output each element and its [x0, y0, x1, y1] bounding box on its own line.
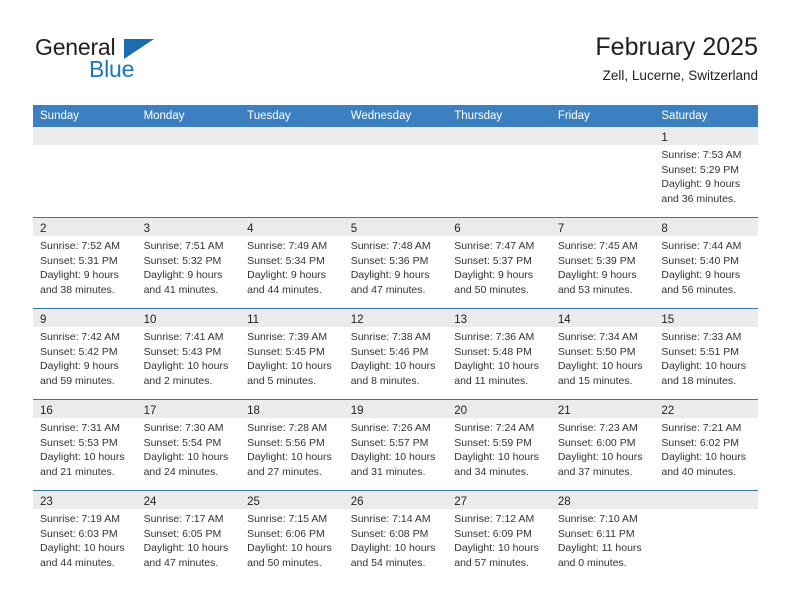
- sunset-text: Sunset: 5:54 PM: [144, 436, 237, 451]
- day-cell-inner: 13Sunrise: 7:36 AMSunset: 5:48 PMDayligh…: [447, 309, 551, 399]
- day-cell-inner: [33, 127, 137, 217]
- sunset-text: Sunset: 6:05 PM: [144, 527, 237, 542]
- calendar-day-cell[interactable]: 27Sunrise: 7:12 AMSunset: 6:09 PMDayligh…: [447, 491, 551, 582]
- sunrise-text: Sunrise: 7:14 AM: [351, 512, 444, 527]
- sunrise-text: Sunrise: 7:42 AM: [40, 330, 133, 345]
- daylight-text-line1: Daylight: 10 hours: [144, 359, 237, 374]
- calendar-day-cell[interactable]: 16Sunrise: 7:31 AMSunset: 5:53 PMDayligh…: [33, 400, 137, 491]
- day-number-band: [240, 127, 344, 145]
- daylight-text-line1: Daylight: 9 hours: [40, 268, 133, 283]
- day-cell-inner: 12Sunrise: 7:38 AMSunset: 5:46 PMDayligh…: [344, 309, 448, 399]
- daylight-text-line1: Daylight: 10 hours: [247, 541, 340, 556]
- calendar-day-cell-empty: [240, 127, 344, 218]
- sun-info: Sunrise: 7:51 AMSunset: 5:32 PMDaylight:…: [137, 236, 241, 297]
- calendar-day-cell[interactable]: 13Sunrise: 7:36 AMSunset: 5:48 PMDayligh…: [447, 309, 551, 400]
- calendar-day-cell[interactable]: 18Sunrise: 7:28 AMSunset: 5:56 PMDayligh…: [240, 400, 344, 491]
- calendar-day-cell-empty: [447, 127, 551, 218]
- daylight-text-line1: Daylight: 10 hours: [247, 450, 340, 465]
- day-number: 21: [558, 405, 571, 417]
- daylight-text-line1: Daylight: 10 hours: [40, 541, 133, 556]
- sunset-text: Sunset: 5:45 PM: [247, 345, 340, 360]
- day-number-band: 7: [551, 218, 655, 236]
- calendar-day-cell-empty: [551, 127, 655, 218]
- daylight-text-line1: Daylight: 10 hours: [558, 359, 651, 374]
- day-number-band: 27: [447, 491, 551, 509]
- sun-info: Sunrise: 7:24 AMSunset: 5:59 PMDaylight:…: [447, 418, 551, 479]
- day-number: 5: [351, 223, 357, 235]
- day-cell-inner: 25Sunrise: 7:15 AMSunset: 6:06 PMDayligh…: [240, 491, 344, 581]
- day-number: 6: [454, 223, 460, 235]
- day-number: 3: [144, 223, 150, 235]
- daylight-text-line2: and 38 minutes.: [40, 283, 133, 298]
- calendar-week-row: 23Sunrise: 7:19 AMSunset: 6:03 PMDayligh…: [33, 491, 758, 582]
- daylight-text-line1: Daylight: 10 hours: [454, 541, 547, 556]
- daylight-text-line2: and 54 minutes.: [351, 556, 444, 571]
- calendar-week-row: 16Sunrise: 7:31 AMSunset: 5:53 PMDayligh…: [33, 400, 758, 491]
- calendar-day-cell[interactable]: 10Sunrise: 7:41 AMSunset: 5:43 PMDayligh…: [137, 309, 241, 400]
- daylight-text-line2: and 37 minutes.: [558, 465, 651, 480]
- sunrise-text: Sunrise: 7:38 AM: [351, 330, 444, 345]
- calendar-day-cell-empty: [137, 127, 241, 218]
- day-cell-inner: 15Sunrise: 7:33 AMSunset: 5:51 PMDayligh…: [654, 309, 758, 399]
- calendar-day-cell[interactable]: 23Sunrise: 7:19 AMSunset: 6:03 PMDayligh…: [33, 491, 137, 582]
- daylight-text-line1: Daylight: 10 hours: [661, 359, 754, 374]
- sunset-text: Sunset: 6:08 PM: [351, 527, 444, 542]
- daylight-text-line1: Daylight: 9 hours: [40, 359, 133, 374]
- day-number: 16: [40, 405, 53, 417]
- day-cell-inner: 24Sunrise: 7:17 AMSunset: 6:05 PMDayligh…: [137, 491, 241, 581]
- calendar-day-cell[interactable]: 12Sunrise: 7:38 AMSunset: 5:46 PMDayligh…: [344, 309, 448, 400]
- calendar-day-cell[interactable]: 28Sunrise: 7:10 AMSunset: 6:11 PMDayligh…: [551, 491, 655, 582]
- sun-info: Sunrise: 7:15 AMSunset: 6:06 PMDaylight:…: [240, 509, 344, 570]
- day-number-band: [447, 127, 551, 145]
- sun-info: Sunrise: 7:42 AMSunset: 5:42 PMDaylight:…: [33, 327, 137, 388]
- weekday-header-tuesday: Tuesday: [240, 105, 344, 127]
- daylight-text-line2: and 2 minutes.: [144, 374, 237, 389]
- page-subtitle: Zell, Lucerne, Switzerland: [595, 65, 758, 87]
- day-number: 1: [661, 132, 667, 144]
- daylight-text-line1: Daylight: 9 hours: [454, 268, 547, 283]
- sunset-text: Sunset: 5:36 PM: [351, 254, 444, 269]
- general-blue-logo[interactable]: General Blue: [34, 32, 274, 90]
- day-number-band: 20: [447, 400, 551, 418]
- daylight-text-line1: Daylight: 9 hours: [558, 268, 651, 283]
- daylight-text-line2: and 0 minutes.: [558, 556, 651, 571]
- sunset-text: Sunset: 5:43 PM: [144, 345, 237, 360]
- calendar-day-cell[interactable]: 9Sunrise: 7:42 AMSunset: 5:42 PMDaylight…: [33, 309, 137, 400]
- day-number-band: 28: [551, 491, 655, 509]
- sunset-text: Sunset: 6:00 PM: [558, 436, 651, 451]
- sunset-text: Sunset: 5:46 PM: [351, 345, 444, 360]
- day-number-band: 17: [137, 400, 241, 418]
- day-number-band: 3: [137, 218, 241, 236]
- logo-text-blue: Blue: [89, 56, 134, 82]
- day-number-band: [344, 127, 448, 145]
- calendar-week-row: 2Sunrise: 7:52 AMSunset: 5:31 PMDaylight…: [33, 218, 758, 309]
- day-number: 25: [247, 496, 260, 508]
- calendar-table: Sunday Monday Tuesday Wednesday Thursday…: [33, 105, 758, 581]
- daylight-text-line1: Daylight: 9 hours: [247, 268, 340, 283]
- sunset-text: Sunset: 6:09 PM: [454, 527, 547, 542]
- day-cell-inner: 22Sunrise: 7:21 AMSunset: 6:02 PMDayligh…: [654, 400, 758, 490]
- day-number-band: 26: [344, 491, 448, 509]
- daylight-text-line1: Daylight: 10 hours: [40, 450, 133, 465]
- day-number: 4: [247, 223, 253, 235]
- day-number-band: 10: [137, 309, 241, 327]
- daylight-text-line2: and 50 minutes.: [247, 556, 340, 571]
- daylight-text-line2: and 56 minutes.: [661, 283, 754, 298]
- sunset-text: Sunset: 5:42 PM: [40, 345, 133, 360]
- sunset-text: Sunset: 5:31 PM: [40, 254, 133, 269]
- sunrise-text: Sunrise: 7:17 AM: [144, 512, 237, 527]
- calendar-day-cell[interactable]: 8Sunrise: 7:44 AMSunset: 5:40 PMDaylight…: [654, 218, 758, 309]
- daylight-text-line2: and 59 minutes.: [40, 374, 133, 389]
- sun-info: Sunrise: 7:17 AMSunset: 6:05 PMDaylight:…: [137, 509, 241, 570]
- daylight-text-line1: Daylight: 11 hours: [558, 541, 651, 556]
- sunset-text: Sunset: 6:03 PM: [40, 527, 133, 542]
- day-cell-inner: 5Sunrise: 7:48 AMSunset: 5:36 PMDaylight…: [344, 218, 448, 308]
- calendar-day-cell[interactable]: 14Sunrise: 7:34 AMSunset: 5:50 PMDayligh…: [551, 309, 655, 400]
- sunset-text: Sunset: 5:53 PM: [40, 436, 133, 451]
- sun-info: Sunrise: 7:53 AMSunset: 5:29 PMDaylight:…: [654, 145, 758, 206]
- daylight-text-line2: and 34 minutes.: [454, 465, 547, 480]
- weekday-header-sunday: Sunday: [33, 105, 137, 127]
- daylight-text-line1: Daylight: 10 hours: [661, 450, 754, 465]
- day-cell-inner: 8Sunrise: 7:44 AMSunset: 5:40 PMDaylight…: [654, 218, 758, 308]
- calendar-day-cell[interactable]: 20Sunrise: 7:24 AMSunset: 5:59 PMDayligh…: [447, 400, 551, 491]
- calendar-day-cell-empty: [654, 491, 758, 582]
- day-number: 20: [454, 405, 467, 417]
- day-number-band: 2: [33, 218, 137, 236]
- daylight-text-line2: and 41 minutes.: [144, 283, 237, 298]
- day-cell-inner: 7Sunrise: 7:45 AMSunset: 5:39 PMDaylight…: [551, 218, 655, 308]
- day-cell-inner: 9Sunrise: 7:42 AMSunset: 5:42 PMDaylight…: [33, 309, 137, 399]
- sunrise-text: Sunrise: 7:12 AM: [454, 512, 547, 527]
- sun-info: Sunrise: 7:31 AMSunset: 5:53 PMDaylight:…: [33, 418, 137, 479]
- daylight-text-line1: Daylight: 10 hours: [351, 359, 444, 374]
- sunset-text: Sunset: 6:11 PM: [558, 527, 651, 542]
- calendar-day-cell[interactable]: 1Sunrise: 7:53 AMSunset: 5:29 PMDaylight…: [654, 127, 758, 218]
- day-number-band: 15: [654, 309, 758, 327]
- day-cell-inner: [654, 491, 758, 581]
- daylight-text-line2: and 36 minutes.: [661, 192, 754, 207]
- daylight-text-line2: and 50 minutes.: [454, 283, 547, 298]
- day-number-band: 14: [551, 309, 655, 327]
- calendar-day-cell[interactable]: 5Sunrise: 7:48 AMSunset: 5:36 PMDaylight…: [344, 218, 448, 309]
- day-number-band: 24: [137, 491, 241, 509]
- daylight-text-line2: and 47 minutes.: [351, 283, 444, 298]
- daylight-text-line2: and 40 minutes.: [661, 465, 754, 480]
- daylight-text-line1: Daylight: 9 hours: [661, 268, 754, 283]
- calendar-day-cell[interactable]: 25Sunrise: 7:15 AMSunset: 6:06 PMDayligh…: [240, 491, 344, 582]
- calendar-day-cell[interactable]: 7Sunrise: 7:45 AMSunset: 5:39 PMDaylight…: [551, 218, 655, 309]
- calendar-day-cell[interactable]: 6Sunrise: 7:47 AMSunset: 5:37 PMDaylight…: [447, 218, 551, 309]
- sunrise-text: Sunrise: 7:21 AM: [661, 421, 754, 436]
- calendar-day-cell-empty: [33, 127, 137, 218]
- day-cell-inner: [551, 127, 655, 217]
- day-number: 18: [247, 405, 260, 417]
- sunrise-text: Sunrise: 7:31 AM: [40, 421, 133, 436]
- daylight-text-line1: Daylight: 9 hours: [661, 177, 754, 192]
- day-cell-inner: [344, 127, 448, 217]
- day-cell-inner: 6Sunrise: 7:47 AMSunset: 5:37 PMDaylight…: [447, 218, 551, 308]
- sunset-text: Sunset: 5:40 PM: [661, 254, 754, 269]
- sun-info: Sunrise: 7:30 AMSunset: 5:54 PMDaylight:…: [137, 418, 241, 479]
- sunset-text: Sunset: 5:50 PM: [558, 345, 651, 360]
- day-number-band: 18: [240, 400, 344, 418]
- sun-info: Sunrise: 7:45 AMSunset: 5:39 PMDaylight:…: [551, 236, 655, 297]
- day-cell-inner: 16Sunrise: 7:31 AMSunset: 5:53 PMDayligh…: [33, 400, 137, 490]
- calendar-day-cell[interactable]: 19Sunrise: 7:26 AMSunset: 5:57 PMDayligh…: [344, 400, 448, 491]
- sun-info: Sunrise: 7:33 AMSunset: 5:51 PMDaylight:…: [654, 327, 758, 388]
- sunrise-text: Sunrise: 7:39 AM: [247, 330, 340, 345]
- day-cell-inner: 10Sunrise: 7:41 AMSunset: 5:43 PMDayligh…: [137, 309, 241, 399]
- sun-info: Sunrise: 7:28 AMSunset: 5:56 PMDaylight:…: [240, 418, 344, 479]
- day-number: 10: [144, 314, 157, 326]
- sunset-text: Sunset: 5:59 PM: [454, 436, 547, 451]
- sunset-text: Sunset: 6:06 PM: [247, 527, 340, 542]
- sun-info: Sunrise: 7:39 AMSunset: 5:45 PMDaylight:…: [240, 327, 344, 388]
- sunset-text: Sunset: 5:57 PM: [351, 436, 444, 451]
- calendar-day-cell[interactable]: 15Sunrise: 7:33 AMSunset: 5:51 PMDayligh…: [654, 309, 758, 400]
- sun-info: Sunrise: 7:41 AMSunset: 5:43 PMDaylight:…: [137, 327, 241, 388]
- sunset-text: Sunset: 5:48 PM: [454, 345, 547, 360]
- day-cell-inner: 18Sunrise: 7:28 AMSunset: 5:56 PMDayligh…: [240, 400, 344, 490]
- day-cell-inner: 4Sunrise: 7:49 AMSunset: 5:34 PMDaylight…: [240, 218, 344, 308]
- daylight-text-line1: Daylight: 9 hours: [351, 268, 444, 283]
- day-cell-inner: 11Sunrise: 7:39 AMSunset: 5:45 PMDayligh…: [240, 309, 344, 399]
- calendar-body: 1Sunrise: 7:53 AMSunset: 5:29 PMDaylight…: [33, 127, 758, 581]
- sunrise-text: Sunrise: 7:19 AM: [40, 512, 133, 527]
- daylight-text-line2: and 44 minutes.: [40, 556, 133, 571]
- sunset-text: Sunset: 5:34 PM: [247, 254, 340, 269]
- day-cell-inner: 3Sunrise: 7:51 AMSunset: 5:32 PMDaylight…: [137, 218, 241, 308]
- calendar-day-cell[interactable]: 3Sunrise: 7:51 AMSunset: 5:32 PMDaylight…: [137, 218, 241, 309]
- sun-info: Sunrise: 7:36 AMSunset: 5:48 PMDaylight:…: [447, 327, 551, 388]
- sunset-text: Sunset: 5:51 PM: [661, 345, 754, 360]
- sunrise-text: Sunrise: 7:53 AM: [661, 148, 754, 163]
- daylight-text-line1: Daylight: 10 hours: [144, 541, 237, 556]
- day-cell-inner: 27Sunrise: 7:12 AMSunset: 6:09 PMDayligh…: [447, 491, 551, 581]
- sunrise-text: Sunrise: 7:28 AM: [247, 421, 340, 436]
- day-number-band: 9: [33, 309, 137, 327]
- day-cell-inner: 26Sunrise: 7:14 AMSunset: 6:08 PMDayligh…: [344, 491, 448, 581]
- day-cell-inner: 14Sunrise: 7:34 AMSunset: 5:50 PMDayligh…: [551, 309, 655, 399]
- sun-info: Sunrise: 7:48 AMSunset: 5:36 PMDaylight:…: [344, 236, 448, 297]
- day-number: 28: [558, 496, 571, 508]
- calendar-day-cell[interactable]: 26Sunrise: 7:14 AMSunset: 6:08 PMDayligh…: [344, 491, 448, 582]
- sunrise-text: Sunrise: 7:30 AM: [144, 421, 237, 436]
- daylight-text-line2: and 8 minutes.: [351, 374, 444, 389]
- day-number: 17: [144, 405, 157, 417]
- day-number: 23: [40, 496, 53, 508]
- sunrise-text: Sunrise: 7:15 AM: [247, 512, 340, 527]
- sunrise-text: Sunrise: 7:48 AM: [351, 239, 444, 254]
- daylight-text-line2: and 24 minutes.: [144, 465, 237, 480]
- sunrise-text: Sunrise: 7:49 AM: [247, 239, 340, 254]
- day-number: 14: [558, 314, 571, 326]
- daylight-text-line1: Daylight: 10 hours: [247, 359, 340, 374]
- day-number: 2: [40, 223, 46, 235]
- sunset-text: Sunset: 5:37 PM: [454, 254, 547, 269]
- daylight-text-line2: and 44 minutes.: [247, 283, 340, 298]
- day-number-band: [654, 491, 758, 509]
- day-cell-inner: 1Sunrise: 7:53 AMSunset: 5:29 PMDaylight…: [654, 127, 758, 217]
- day-number-band: 19: [344, 400, 448, 418]
- daylight-text-line1: Daylight: 10 hours: [454, 359, 547, 374]
- day-number: 8: [661, 223, 667, 235]
- day-number: 12: [351, 314, 364, 326]
- day-cell-inner: [137, 127, 241, 217]
- sun-info: Sunrise: 7:23 AMSunset: 6:00 PMDaylight:…: [551, 418, 655, 479]
- day-cell-inner: 20Sunrise: 7:24 AMSunset: 5:59 PMDayligh…: [447, 400, 551, 490]
- day-number: 11: [247, 314, 259, 326]
- sun-info: Sunrise: 7:19 AMSunset: 6:03 PMDaylight:…: [33, 509, 137, 570]
- weekday-header-row: Sunday Monday Tuesday Wednesday Thursday…: [33, 105, 758, 127]
- weekday-header-monday: Monday: [137, 105, 241, 127]
- day-cell-inner: [447, 127, 551, 217]
- day-number-band: [33, 127, 137, 145]
- daylight-text-line2: and 53 minutes.: [558, 283, 651, 298]
- day-cell-inner: 21Sunrise: 7:23 AMSunset: 6:00 PMDayligh…: [551, 400, 655, 490]
- calendar-day-cell-empty: [344, 127, 448, 218]
- daylight-text-line2: and 31 minutes.: [351, 465, 444, 480]
- sunrise-text: Sunrise: 7:52 AM: [40, 239, 133, 254]
- sunrise-text: Sunrise: 7:36 AM: [454, 330, 547, 345]
- day-cell-inner: [240, 127, 344, 217]
- sunset-text: Sunset: 5:56 PM: [247, 436, 340, 451]
- calendar-day-cell[interactable]: 2Sunrise: 7:52 AMSunset: 5:31 PMDaylight…: [33, 218, 137, 309]
- daylight-text-line1: Daylight: 9 hours: [144, 268, 237, 283]
- page-header: General Blue February 2025 Zell, Lucerne…: [34, 32, 758, 98]
- day-number: 7: [558, 223, 564, 235]
- calendar-day-cell[interactable]: 17Sunrise: 7:30 AMSunset: 5:54 PMDayligh…: [137, 400, 241, 491]
- sunrise-text: Sunrise: 7:10 AM: [558, 512, 651, 527]
- day-number: 26: [351, 496, 364, 508]
- sunrise-text: Sunrise: 7:34 AM: [558, 330, 651, 345]
- calendar-page: General Blue February 2025 Zell, Lucerne…: [0, 0, 792, 612]
- sun-info: Sunrise: 7:10 AMSunset: 6:11 PMDaylight:…: [551, 509, 655, 570]
- sun-info: Sunrise: 7:21 AMSunset: 6:02 PMDaylight:…: [654, 418, 758, 479]
- calendar-day-cell[interactable]: 24Sunrise: 7:17 AMSunset: 6:05 PMDayligh…: [137, 491, 241, 582]
- sun-info: Sunrise: 7:44 AMSunset: 5:40 PMDaylight:…: [654, 236, 758, 297]
- sunset-text: Sunset: 6:02 PM: [661, 436, 754, 451]
- sunrise-text: Sunrise: 7:33 AM: [661, 330, 754, 345]
- day-number: 15: [661, 314, 674, 326]
- sun-info: Sunrise: 7:38 AMSunset: 5:46 PMDaylight:…: [344, 327, 448, 388]
- day-number: 19: [351, 405, 364, 417]
- sunrise-text: Sunrise: 7:45 AM: [558, 239, 651, 254]
- day-number-band: [551, 127, 655, 145]
- day-number-band: 1: [654, 127, 758, 145]
- calendar-day-cell[interactable]: 21Sunrise: 7:23 AMSunset: 6:00 PMDayligh…: [551, 400, 655, 491]
- day-number-band: 11: [240, 309, 344, 327]
- sunrise-text: Sunrise: 7:24 AM: [454, 421, 547, 436]
- day-cell-inner: 23Sunrise: 7:19 AMSunset: 6:03 PMDayligh…: [33, 491, 137, 581]
- day-number: 27: [454, 496, 467, 508]
- day-number-band: 12: [344, 309, 448, 327]
- weekday-header-wednesday: Wednesday: [344, 105, 448, 127]
- page-title: February 2025: [595, 32, 758, 62]
- weekday-header-thursday: Thursday: [447, 105, 551, 127]
- day-cell-inner: 17Sunrise: 7:30 AMSunset: 5:54 PMDayligh…: [137, 400, 241, 490]
- day-number: 9: [40, 314, 46, 326]
- day-cell-inner: 28Sunrise: 7:10 AMSunset: 6:11 PMDayligh…: [551, 491, 655, 581]
- day-number: 24: [144, 496, 157, 508]
- sun-info: Sunrise: 7:12 AMSunset: 6:09 PMDaylight:…: [447, 509, 551, 570]
- sunrise-text: Sunrise: 7:23 AM: [558, 421, 651, 436]
- sun-info: Sunrise: 7:26 AMSunset: 5:57 PMDaylight:…: [344, 418, 448, 479]
- calendar-week-row: 9Sunrise: 7:42 AMSunset: 5:42 PMDaylight…: [33, 309, 758, 400]
- weekday-header-saturday: Saturday: [654, 105, 758, 127]
- day-number-band: 5: [344, 218, 448, 236]
- sunrise-text: Sunrise: 7:51 AM: [144, 239, 237, 254]
- daylight-text-line2: and 27 minutes.: [247, 465, 340, 480]
- daylight-text-line2: and 15 minutes.: [558, 374, 651, 389]
- calendar-day-cell[interactable]: 11Sunrise: 7:39 AMSunset: 5:45 PMDayligh…: [240, 309, 344, 400]
- daylight-text-line2: and 47 minutes.: [144, 556, 237, 571]
- daylight-text-line1: Daylight: 10 hours: [351, 541, 444, 556]
- daylight-text-line1: Daylight: 10 hours: [454, 450, 547, 465]
- weekday-header-friday: Friday: [551, 105, 655, 127]
- sunset-text: Sunset: 5:32 PM: [144, 254, 237, 269]
- sunrise-text: Sunrise: 7:41 AM: [144, 330, 237, 345]
- day-number-band: 23: [33, 491, 137, 509]
- sunset-text: Sunset: 5:39 PM: [558, 254, 651, 269]
- daylight-text-line1: Daylight: 10 hours: [351, 450, 444, 465]
- sunrise-text: Sunrise: 7:26 AM: [351, 421, 444, 436]
- daylight-text-line2: and 11 minutes.: [454, 374, 547, 389]
- calendar-day-cell[interactable]: 4Sunrise: 7:49 AMSunset: 5:34 PMDaylight…: [240, 218, 344, 309]
- title-block: February 2025 Zell, Lucerne, Switzerland: [595, 32, 758, 87]
- sun-info: Sunrise: 7:47 AMSunset: 5:37 PMDaylight:…: [447, 236, 551, 297]
- day-number-band: 13: [447, 309, 551, 327]
- daylight-text-line2: and 57 minutes.: [454, 556, 547, 571]
- sun-info: Sunrise: 7:49 AMSunset: 5:34 PMDaylight:…: [240, 236, 344, 297]
- day-number-band: 16: [33, 400, 137, 418]
- calendar-week-row: 1Sunrise: 7:53 AMSunset: 5:29 PMDaylight…: [33, 127, 758, 218]
- calendar-day-cell[interactable]: 22Sunrise: 7:21 AMSunset: 6:02 PMDayligh…: [654, 400, 758, 491]
- daylight-text-line1: Daylight: 10 hours: [144, 450, 237, 465]
- day-number-band: 21: [551, 400, 655, 418]
- day-cell-inner: 19Sunrise: 7:26 AMSunset: 5:57 PMDayligh…: [344, 400, 448, 490]
- day-number: 13: [454, 314, 467, 326]
- day-number-band: 25: [240, 491, 344, 509]
- day-number-band: 6: [447, 218, 551, 236]
- day-number-band: 4: [240, 218, 344, 236]
- sunrise-text: Sunrise: 7:47 AM: [454, 239, 547, 254]
- day-number-band: 8: [654, 218, 758, 236]
- sunrise-text: Sunrise: 7:44 AM: [661, 239, 754, 254]
- daylight-text-line2: and 5 minutes.: [247, 374, 340, 389]
- day-number-band: 22: [654, 400, 758, 418]
- day-number-band: [137, 127, 241, 145]
- sun-info: Sunrise: 7:52 AMSunset: 5:31 PMDaylight:…: [33, 236, 137, 297]
- daylight-text-line1: Daylight: 10 hours: [558, 450, 651, 465]
- day-number: 22: [661, 405, 674, 417]
- sun-info: Sunrise: 7:34 AMSunset: 5:50 PMDaylight:…: [551, 327, 655, 388]
- daylight-text-line2: and 21 minutes.: [40, 465, 133, 480]
- sun-info: Sunrise: 7:14 AMSunset: 6:08 PMDaylight:…: [344, 509, 448, 570]
- daylight-text-line2: and 18 minutes.: [661, 374, 754, 389]
- day-cell-inner: 2Sunrise: 7:52 AMSunset: 5:31 PMDaylight…: [33, 218, 137, 308]
- sunset-text: Sunset: 5:29 PM: [661, 163, 754, 178]
